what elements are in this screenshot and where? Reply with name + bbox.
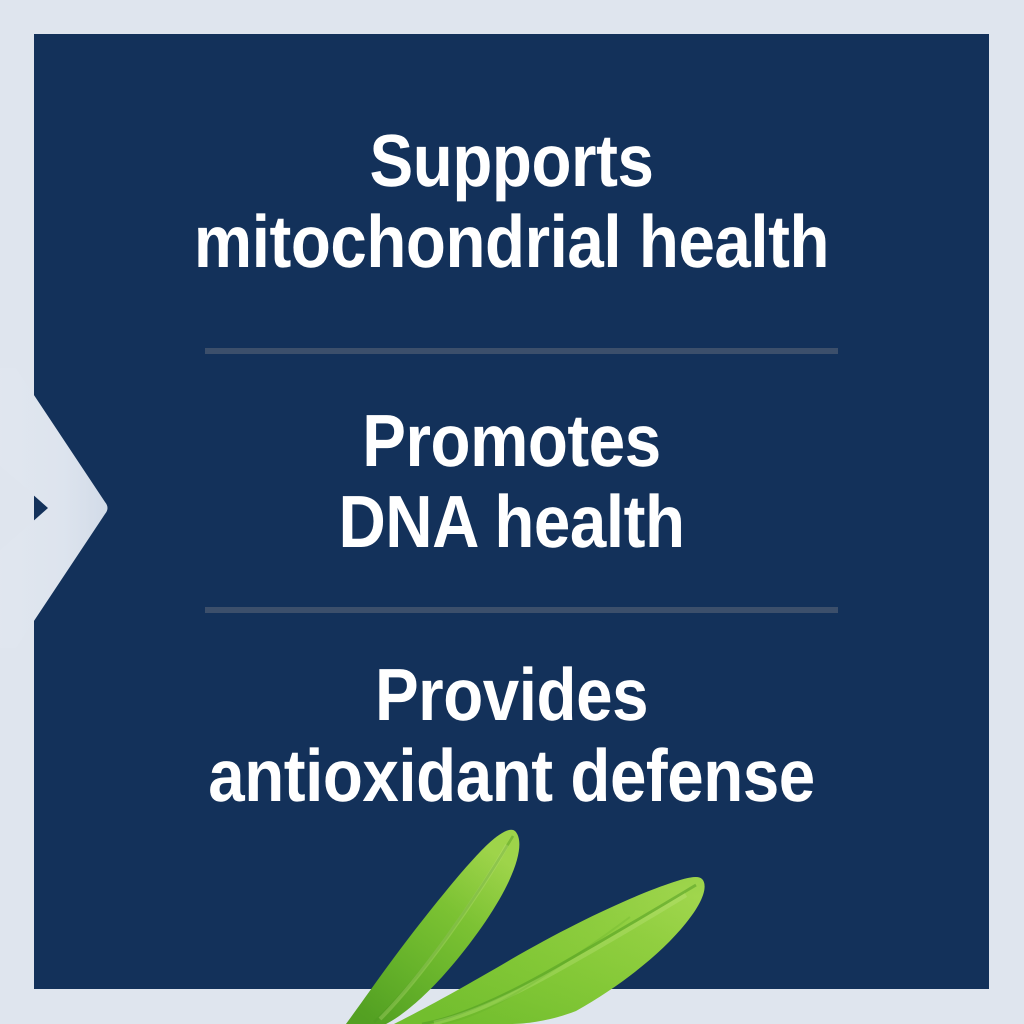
claims-list: Supports mitochondrial health Promotes D… [34, 34, 989, 989]
chevron-right-icon [0, 368, 108, 648]
claim-promotes-dna-health: Promotes DNA health [89, 400, 934, 563]
claim-supports-mitochondrial-health: Supports mitochondrial health [89, 120, 934, 283]
claim-divider-1 [205, 348, 838, 354]
claim-divider-2 [205, 607, 838, 613]
promo-graphic: Supports mitochondrial health Promotes D… [0, 0, 1024, 1024]
benefits-panel: Supports mitochondrial health Promotes D… [34, 34, 989, 989]
claim-provides-antioxidant-defense: Provides antioxidant defense [89, 654, 934, 817]
